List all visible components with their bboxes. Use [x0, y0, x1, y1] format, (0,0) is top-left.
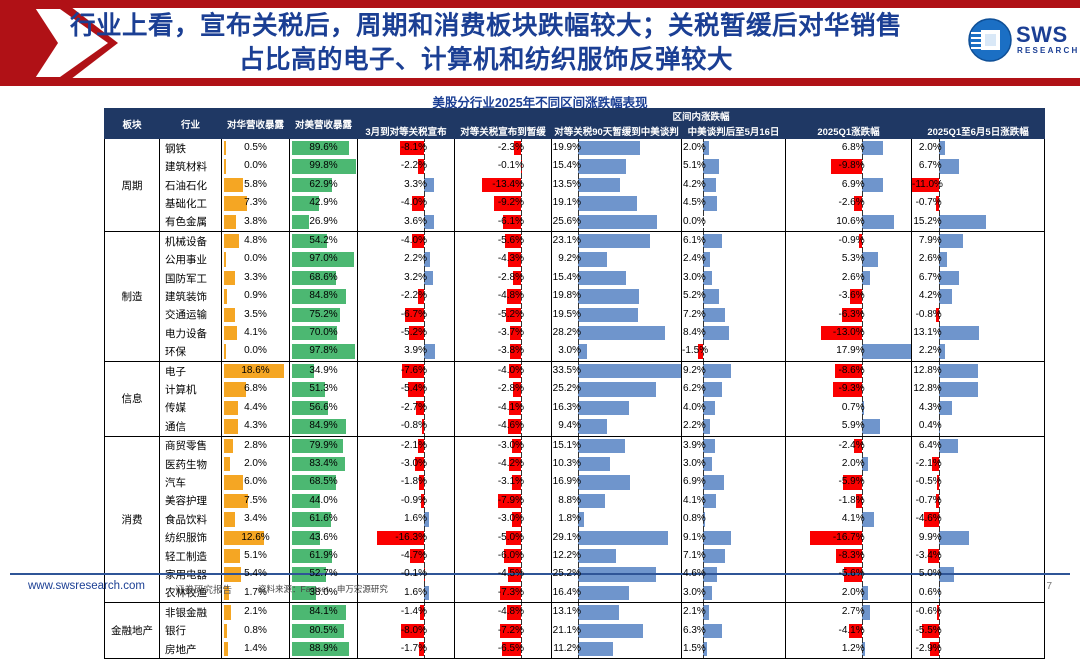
cell-r6: 5.0%: [912, 565, 1045, 583]
cell-value: 4.3%: [912, 399, 1044, 417]
cell-r4: 2.1%: [682, 603, 786, 622]
table-row: 建筑材料0.0%99.8%-2.2%-0.1%15.4%5.1%-9.8%6.7…: [105, 157, 1045, 175]
cell-r6: -2.9%: [912, 640, 1045, 659]
cell-value: 0.5%: [222, 139, 289, 157]
cell-r3: 23.1%: [552, 232, 682, 251]
cell-r5: -2.4%: [786, 436, 912, 455]
cell-value: -11.0%: [912, 176, 1044, 194]
cell-r4: 5.2%: [682, 287, 786, 305]
table-row: 电力设备4.1%70.0%-5.2%-3.7%28.2%8.4%-13.0%13…: [105, 324, 1045, 342]
cell-value: 34.9%: [290, 362, 357, 380]
page-title: 行业上看，宣布关税后，周期和消费板块跌幅较大；关税暂缓后对华销售占比高的电子、计…: [66, 8, 906, 78]
cell-r6: 4.3%: [912, 399, 1045, 417]
cell-value: 7.9%: [912, 232, 1044, 250]
cell-value: -5.6%: [786, 565, 911, 583]
cell-value: -1.8%: [358, 473, 454, 491]
cell-r3: 15.1%: [552, 436, 682, 455]
cell-exposure: 0.0%: [222, 342, 290, 361]
cell-r1: -1.4%: [358, 603, 455, 622]
cell-value: -0.8%: [358, 417, 454, 435]
cell-value: 0.8%: [682, 510, 785, 528]
cell-r1: -8.0%: [358, 622, 455, 640]
cell-value: 25.2%: [552, 380, 681, 398]
cell-r2: -3.1%: [455, 473, 552, 491]
cell-value: -4.2%: [455, 455, 551, 473]
cell-r6: 7.9%: [912, 232, 1045, 251]
cell-value: 3.0%: [682, 269, 785, 287]
cell-industry: 交通运输: [160, 306, 222, 324]
logo-subtitle: RESEARCH: [1017, 46, 1080, 55]
cell-r4: 4.6%: [682, 565, 786, 583]
cell-value: -5.2%: [455, 306, 551, 324]
cell-value: -2.2%: [358, 157, 454, 175]
sws-logo-mark-icon: [968, 18, 1012, 62]
cell-value: -6.3%: [786, 306, 911, 324]
cell-value: 1.6%: [358, 510, 454, 528]
cell-exposure: 3.3%: [222, 269, 290, 287]
cell-r2: -13.4%: [455, 176, 552, 194]
table-row: 农林牧渔1.7%38.0%1.6%-7.3%16.4%3.0%2.0%0.6%: [105, 584, 1045, 603]
cell-r1: -0.9%: [358, 492, 455, 510]
cell-r1: 3.3%: [358, 176, 455, 194]
cell-value: -3.0%: [455, 437, 551, 455]
cell-r4: 9.1%: [682, 529, 786, 547]
table-row: 有色金属3.8%26.9%3.6%-6.1%25.6%0.0%10.6%15.2…: [105, 213, 1045, 232]
cell-value: 5.0%: [912, 565, 1044, 583]
cell-r6: 4.2%: [912, 287, 1045, 305]
cell-exposure: 1.4%: [222, 640, 290, 659]
cell-exposure: 7.3%: [222, 194, 290, 212]
cell-value: 75.2%: [290, 306, 357, 324]
cell-value: 13.1%: [552, 603, 681, 621]
cell-r5: -3.6%: [786, 287, 912, 305]
cell-r2: -3.8%: [455, 342, 552, 361]
cell-value: 1.4%: [222, 640, 289, 658]
cell-r3: 28.2%: [552, 324, 682, 342]
cell-r1: -8.1%: [358, 139, 455, 158]
cell-r6: 6.4%: [912, 436, 1045, 455]
cell-value: 79.9%: [290, 437, 357, 455]
cell-value: -4.7%: [358, 547, 454, 565]
th-sector: 板块: [105, 109, 160, 139]
cell-exposure: 56.6%: [290, 399, 358, 417]
cell-r5: 10.6%: [786, 213, 912, 232]
cell-industry: 商贸零售: [160, 436, 222, 455]
cell-r6: -5.5%: [912, 622, 1045, 640]
cell-r2: -5.2%: [455, 306, 552, 324]
cell-value: 8.4%: [682, 324, 785, 342]
cell-industry: 电子: [160, 361, 222, 380]
cell-r3: 25.2%: [552, 380, 682, 398]
cell-r5: -0.9%: [786, 232, 912, 251]
cell-exposure: 83.4%: [290, 455, 358, 473]
cell-r5: 5.3%: [786, 250, 912, 268]
cell-value: 1.6%: [358, 584, 454, 602]
cell-value: 1.7%: [222, 584, 289, 602]
cell-value: -0.7%: [912, 492, 1044, 510]
cell-industry: 电力设备: [160, 324, 222, 342]
table-row: 交通运输3.5%75.2%-6.7%-5.2%19.5%7.2%-6.3%-0.…: [105, 306, 1045, 324]
cell-value: 6.1%: [682, 232, 785, 250]
cell-r3: 10.3%: [552, 455, 682, 473]
cell-r5: -13.0%: [786, 324, 912, 342]
cell-value: 2.0%: [682, 139, 785, 157]
cell-exposure: 70.0%: [290, 324, 358, 342]
cell-value: 7.2%: [682, 306, 785, 324]
cell-value: 19.9%: [552, 139, 681, 157]
table-row: 国防军工3.3%68.6%3.2%-2.8%15.4%3.0%2.6%6.7%: [105, 269, 1045, 287]
cell-value: -13.4%: [455, 176, 551, 194]
cell-value: -0.6%: [912, 603, 1044, 621]
cell-value: -8.3%: [786, 547, 911, 565]
cell-value: 15.4%: [552, 157, 681, 175]
cell-value: 2.0%: [912, 139, 1044, 157]
cell-exposure: 51.3%: [290, 380, 358, 398]
cell-value: -2.6%: [786, 194, 911, 212]
table-row: 轻工制造5.1%61.9%-4.7%-6.0%12.2%7.1%-8.3%-3.…: [105, 547, 1045, 565]
cell-value: 5.3%: [786, 250, 911, 268]
cell-value: 3.9%: [358, 342, 454, 360]
cell-industry: 食品饮料: [160, 510, 222, 528]
header-top-band: [0, 0, 1080, 8]
cell-exposure: 79.9%: [290, 436, 358, 455]
table-head-row-1: 板块 行业 对华营收暴露 对美营收暴露 区间内涨跌幅: [105, 109, 1045, 124]
cell-value: -4.1%: [786, 622, 911, 640]
cell-value: 6.8%: [786, 139, 911, 157]
table-row: 环保0.0%97.8%3.9%-3.8%3.0%-1.5%17.9%2.2%: [105, 342, 1045, 361]
cell-value: 56.6%: [290, 399, 357, 417]
cell-value: 6.2%: [682, 380, 785, 398]
cell-exposure: 89.6%: [290, 139, 358, 158]
cell-sector: 制造: [105, 232, 160, 362]
cell-r4: 9.2%: [682, 361, 786, 380]
cell-r4: 3.9%: [682, 436, 786, 455]
cell-r1: -0.1%: [358, 565, 455, 583]
cell-value: -5.4%: [358, 380, 454, 398]
table-row: 纺织服饰12.6%43.6%-16.3%-5.0%29.1%9.1%-16.7%…: [105, 529, 1045, 547]
cell-r1: -2.1%: [358, 436, 455, 455]
footer-url[interactable]: www.swsresearch.com: [28, 580, 145, 592]
cell-value: 16.9%: [552, 473, 681, 491]
table-row: 家用电器5.4%52.7%-0.1%-4.5%25.2%4.6%-5.6%5.0…: [105, 565, 1045, 583]
cell-value: 19.5%: [552, 306, 681, 324]
cell-r6: 6.7%: [912, 269, 1045, 287]
cell-value: 54.2%: [290, 232, 357, 250]
cell-industry: 有色金属: [160, 213, 222, 232]
cell-value: 4.2%: [912, 287, 1044, 305]
cell-value: 6.7%: [912, 157, 1044, 175]
cell-value: 3.3%: [222, 269, 289, 287]
cell-r6: -0.8%: [912, 306, 1045, 324]
cell-r3: 15.4%: [552, 157, 682, 175]
cell-value: -7.2%: [455, 622, 551, 640]
cell-r5: -5.6%: [786, 565, 912, 583]
cell-value: 38.0%: [290, 584, 357, 602]
cell-value: 15.2%: [912, 213, 1044, 231]
cell-value: 23.1%: [552, 232, 681, 250]
cell-industry: 通信: [160, 417, 222, 436]
cell-value: -3.0%: [358, 455, 454, 473]
cell-r2: -4.5%: [455, 565, 552, 583]
cell-r5: 2.6%: [786, 269, 912, 287]
cell-value: 5.1%: [222, 547, 289, 565]
cell-value: 7.5%: [222, 492, 289, 510]
cell-value: 0.0%: [222, 250, 289, 268]
cell-r3: 1.8%: [552, 510, 682, 528]
header-bottom-band: [0, 78, 1080, 86]
cell-value: -2.1%: [358, 437, 454, 455]
cell-value: 21.1%: [552, 622, 681, 640]
table-head: 板块 行业 对华营收暴露 对美营收暴露 区间内涨跌幅 3月到对等关税宣布 对等关…: [105, 109, 1045, 139]
cell-value: 52.7%: [290, 565, 357, 583]
cell-r5: 2.0%: [786, 584, 912, 603]
cell-r6: -0.5%: [912, 473, 1045, 491]
cell-value: 4.4%: [222, 399, 289, 417]
cell-exposure: 54.2%: [290, 232, 358, 251]
cell-exposure: 2.1%: [222, 603, 290, 622]
table-row: 房地产1.4%88.9%-1.7%-6.5%11.2%1.5%1.2%-2.9%: [105, 640, 1045, 659]
cell-r6: 15.2%: [912, 213, 1045, 232]
cell-value: 10.3%: [552, 455, 681, 473]
cell-value: -4.6%: [912, 510, 1044, 528]
cell-exposure: 5.4%: [222, 565, 290, 583]
cell-r5: 4.1%: [786, 510, 912, 528]
cell-value: 97.8%: [290, 342, 357, 360]
cell-value: 5.4%: [222, 565, 289, 583]
cell-value: -5.2%: [358, 324, 454, 342]
cell-r4: 4.5%: [682, 194, 786, 212]
cell-r4: 2.4%: [682, 250, 786, 268]
cell-r2: -2.8%: [455, 269, 552, 287]
cell-value: 3.5%: [222, 306, 289, 324]
cell-value: 12.8%: [912, 362, 1044, 380]
cell-value: 11.2%: [552, 640, 681, 658]
cell-value: 6.9%: [786, 176, 911, 194]
cell-value: 6.8%: [222, 380, 289, 398]
cell-value: 99.8%: [290, 157, 357, 175]
cell-r2: -4.6%: [455, 417, 552, 436]
cell-value: 61.9%: [290, 547, 357, 565]
cell-r2: -7.2%: [455, 622, 552, 640]
cell-r3: 16.4%: [552, 584, 682, 603]
cell-value: 2.0%: [786, 455, 911, 473]
cell-exposure: 42.9%: [290, 194, 358, 212]
cell-value: 62.9%: [290, 176, 357, 194]
cell-r1: -2.7%: [358, 399, 455, 417]
cell-value: -1.5%: [682, 342, 785, 360]
cell-value: -9.8%: [786, 157, 911, 175]
cell-value: 4.1%: [222, 324, 289, 342]
cell-r4: 6.9%: [682, 473, 786, 491]
cell-r2: -3.0%: [455, 436, 552, 455]
cell-value: 7.3%: [222, 194, 289, 212]
cell-r1: -4.0%: [358, 232, 455, 251]
cell-r5: -9.8%: [786, 157, 912, 175]
cell-industry: 医药生物: [160, 455, 222, 473]
cell-value: 6.7%: [912, 269, 1044, 287]
cell-r2: -9.2%: [455, 194, 552, 212]
cell-value: -0.1%: [455, 157, 551, 175]
cell-exposure: 4.8%: [222, 232, 290, 251]
th-us-exposure: 对美营收暴露: [290, 109, 358, 139]
cell-r3: 9.4%: [552, 417, 682, 436]
cell-value: 0.0%: [682, 213, 785, 231]
cell-exposure: 12.6%: [222, 529, 290, 547]
cell-value: 97.0%: [290, 250, 357, 268]
cell-value: 12.2%: [552, 547, 681, 565]
cell-r2: -6.0%: [455, 547, 552, 565]
cell-exposure: 99.8%: [290, 157, 358, 175]
cell-value: 2.7%: [786, 603, 911, 621]
cell-value: 2.4%: [682, 250, 785, 268]
cell-r6: -0.7%: [912, 194, 1045, 212]
cell-exposure: 0.0%: [222, 250, 290, 268]
cell-value: 84.8%: [290, 287, 357, 305]
cell-r5: -4.1%: [786, 622, 912, 640]
cell-value: 16.4%: [552, 584, 681, 602]
cell-r4: 3.0%: [682, 455, 786, 473]
cell-value: -0.8%: [912, 306, 1044, 324]
cell-value: -8.1%: [358, 139, 454, 157]
cell-r4: 5.1%: [682, 157, 786, 175]
cell-value: -1.4%: [358, 603, 454, 621]
cell-exposure: 61.9%: [290, 547, 358, 565]
cell-value: -6.0%: [455, 547, 551, 565]
cell-value: -16.3%: [358, 529, 454, 547]
cell-value: 3.8%: [222, 213, 289, 231]
cell-value: 3.4%: [222, 510, 289, 528]
cell-value: 0.0%: [222, 157, 289, 175]
cell-industry: 环保: [160, 342, 222, 361]
cell-value: 68.6%: [290, 269, 357, 287]
cell-value: -4.8%: [455, 603, 551, 621]
cell-value: -5.9%: [786, 473, 911, 491]
cell-exposure: 5.1%: [222, 547, 290, 565]
cell-value: 9.2%: [552, 250, 681, 268]
cell-r2: -4.8%: [455, 287, 552, 305]
cell-exposure: 34.9%: [290, 361, 358, 380]
cell-sector: 周期: [105, 139, 160, 232]
cell-r5: -16.7%: [786, 529, 912, 547]
cell-r2: -5.0%: [455, 529, 552, 547]
cell-value: 89.6%: [290, 139, 357, 157]
cell-r5: -8.3%: [786, 547, 912, 565]
cell-exposure: 88.9%: [290, 640, 358, 659]
cell-r6: -3.4%: [912, 547, 1045, 565]
cell-r4: 7.1%: [682, 547, 786, 565]
cell-value: 4.0%: [682, 399, 785, 417]
cell-value: 4.1%: [786, 510, 911, 528]
cell-value: -3.7%: [455, 324, 551, 342]
cell-value: -3.0%: [455, 510, 551, 528]
cell-r4: 6.3%: [682, 622, 786, 640]
cell-value: -2.8%: [455, 269, 551, 287]
cell-value: 6.4%: [912, 437, 1044, 455]
table-row: 消费商贸零售2.8%79.9%-2.1%-3.0%15.1%3.9%-2.4%6…: [105, 436, 1045, 455]
cell-r1: -1.7%: [358, 640, 455, 659]
cell-value: 2.8%: [222, 437, 289, 455]
cell-r6: -0.7%: [912, 492, 1045, 510]
cell-value: -0.9%: [358, 492, 454, 510]
cell-value: -2.3%: [455, 139, 551, 157]
cell-value: 29.1%: [552, 529, 681, 547]
cell-industry: 非银金融: [160, 603, 222, 622]
cell-value: 9.9%: [912, 529, 1044, 547]
cell-value: 0.0%: [222, 342, 289, 360]
cell-r2: -7.9%: [455, 492, 552, 510]
cell-value: 3.0%: [552, 342, 681, 360]
cell-value: 5.9%: [786, 417, 911, 435]
cell-r1: 3.6%: [358, 213, 455, 232]
cell-value: -0.5%: [912, 473, 1044, 491]
cell-r3: 19.5%: [552, 306, 682, 324]
cell-exposure: 38.0%: [290, 584, 358, 603]
table-row: 汽车6.0%68.5%-1.8%-3.1%16.9%6.9%-5.9%-0.5%: [105, 473, 1045, 491]
cell-exposure: 7.5%: [222, 492, 290, 510]
cell-industry: 美容护理: [160, 492, 222, 510]
cell-value: 10.6%: [786, 213, 911, 231]
cell-value: 9.1%: [682, 529, 785, 547]
cell-value: -2.4%: [786, 437, 911, 455]
cell-value: 83.4%: [290, 455, 357, 473]
cell-r1: -5.4%: [358, 380, 455, 398]
cell-exposure: 62.9%: [290, 176, 358, 194]
cell-r3: 21.1%: [552, 622, 682, 640]
cell-value: -2.2%: [358, 287, 454, 305]
cell-value: 9.2%: [682, 362, 785, 380]
table-row: 信息电子18.6%34.9%-7.6%-4.0%33.5%9.2%-8.6%12…: [105, 361, 1045, 380]
cell-r2: -5.6%: [455, 232, 552, 251]
cell-r1: -5.2%: [358, 324, 455, 342]
cell-value: 2.6%: [912, 250, 1044, 268]
cell-value: -2.1%: [912, 455, 1044, 473]
cell-value: 0.9%: [222, 287, 289, 305]
cell-value: 0.7%: [786, 399, 911, 417]
cell-value: -4.3%: [455, 250, 551, 268]
cell-r3: 11.2%: [552, 640, 682, 659]
cell-exposure: 75.2%: [290, 306, 358, 324]
cell-exposure: 68.5%: [290, 473, 358, 491]
cell-r1: 1.6%: [358, 510, 455, 528]
cell-r5: 17.9%: [786, 342, 912, 361]
cell-r3: 19.1%: [552, 194, 682, 212]
cell-r2: -3.0%: [455, 510, 552, 528]
cell-value: 19.8%: [552, 287, 681, 305]
cell-value: 3.0%: [682, 455, 785, 473]
cell-exposure: 84.1%: [290, 603, 358, 622]
cell-r1: -4.0%: [358, 194, 455, 212]
cell-value: 28.2%: [552, 324, 681, 342]
cell-value: 42.9%: [290, 194, 357, 212]
table-body: 周期钢铁0.5%89.6%-8.1%-2.3%19.9%2.0%6.8%2.0%…: [105, 139, 1045, 659]
cell-r1: -4.7%: [358, 547, 455, 565]
cell-value: 18.6%: [222, 362, 289, 380]
cell-value: 68.5%: [290, 473, 357, 491]
cell-exposure: 6.8%: [222, 380, 290, 398]
cell-r3: 8.8%: [552, 492, 682, 510]
cell-r4: 4.1%: [682, 492, 786, 510]
cell-r1: -7.6%: [358, 361, 455, 380]
cell-value: 3.2%: [358, 269, 454, 287]
cell-exposure: 97.0%: [290, 250, 358, 268]
cell-value: 2.1%: [222, 603, 289, 621]
cell-r3: 9.2%: [552, 250, 682, 268]
cell-value: 4.1%: [682, 492, 785, 510]
cell-r5: -6.3%: [786, 306, 912, 324]
cell-r3: 25.2%: [552, 565, 682, 583]
cell-value: -6.1%: [455, 213, 551, 231]
cell-value: 2.2%: [912, 342, 1044, 360]
